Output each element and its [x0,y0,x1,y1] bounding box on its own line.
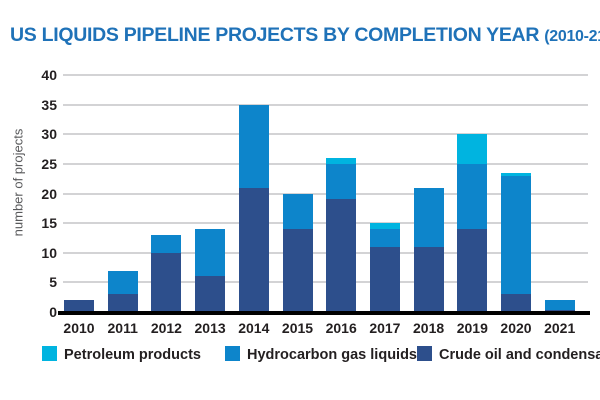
y-tick-label: 15 [31,217,57,229]
bar-group[interactable] [326,75,356,312]
legend-item[interactable]: Crude oil and condensate [417,346,600,366]
bar-segment[interactable] [501,176,531,295]
bar-segment[interactable] [239,188,269,312]
bar-segment[interactable] [457,134,487,164]
bar-segment[interactable] [151,253,181,312]
bar-group[interactable] [195,75,225,312]
bar-segment[interactable] [151,235,181,253]
bar-segment[interactable] [414,188,444,247]
y-tick-label: 5 [31,276,57,288]
bar-segment[interactable] [370,229,400,247]
bar-segment[interactable] [283,194,313,230]
x-tick-label: 2021 [534,318,586,338]
bar-segment[interactable] [370,223,400,229]
bar-group[interactable] [545,75,575,312]
bar-segment[interactable] [108,271,138,295]
y-axis-title: number of projects [11,113,26,253]
bar-segment[interactable] [501,173,531,176]
x-axis-baseline [58,311,590,315]
chart-legend: Petroleum productsHydrocarbon gas liquid… [42,346,587,368]
legend-item[interactable]: Hydrocarbon gas liquids [225,346,417,366]
bar-segment[interactable] [239,105,269,188]
bar-group[interactable] [151,75,181,312]
bar-group[interactable] [457,75,487,312]
y-tick-label: 10 [31,247,57,259]
chart-title-subtitle: (2010-21) [544,28,600,45]
bar-group[interactable] [108,75,138,312]
legend-label: Hydrocarbon gas liquids [247,347,417,363]
plot-area [63,75,588,312]
bar-segment[interactable] [195,229,225,276]
chart-container: US LIQUIDS PIPELINE PROJECTS BY COMPLETI… [0,0,600,400]
legend-label: Crude oil and condensate [439,347,600,363]
bar-group[interactable] [414,75,444,312]
bar-segment[interactable] [326,199,356,312]
legend-item[interactable]: Petroleum products [42,346,201,366]
bar-segment[interactable] [545,300,575,309]
bar-segment[interactable] [370,247,400,312]
y-axis-labels: 4035302520151050 [27,0,57,400]
legend-color-swatch [417,346,432,361]
y-tick-label: 40 [31,69,57,81]
bar-segment[interactable] [414,247,444,312]
bar-segment[interactable] [283,229,313,312]
bar-group[interactable] [64,75,94,312]
legend-color-swatch [42,346,57,361]
bar-segment[interactable] [457,164,487,229]
y-tick-label: 35 [31,99,57,111]
x-axis-labels: 2010201120122013201420152016201720182019… [63,318,588,340]
bar-segment[interactable] [457,229,487,312]
y-tick-label: 30 [31,128,57,140]
chart-title-main: US LIQUIDS PIPELINE PROJECTS BY COMPLETI… [10,24,544,46]
bar-segment[interactable] [326,164,356,200]
bar-segment[interactable] [195,276,225,312]
bar-group[interactable] [239,75,269,312]
bar-group[interactable] [283,75,313,312]
page-title: US LIQUIDS PIPELINE PROJECTS BY COMPLETI… [10,22,595,48]
bar-group[interactable] [501,75,531,312]
bar-segment[interactable] [108,294,138,312]
y-tick-label: 20 [31,188,57,200]
legend-color-swatch [225,346,240,361]
legend-label: Petroleum products [64,347,201,363]
bar-segment[interactable] [501,294,531,312]
y-tick-label: 25 [31,158,57,170]
y-tick-label: 0 [31,306,57,318]
bar-segment[interactable] [326,158,356,164]
bar-group[interactable] [370,75,400,312]
